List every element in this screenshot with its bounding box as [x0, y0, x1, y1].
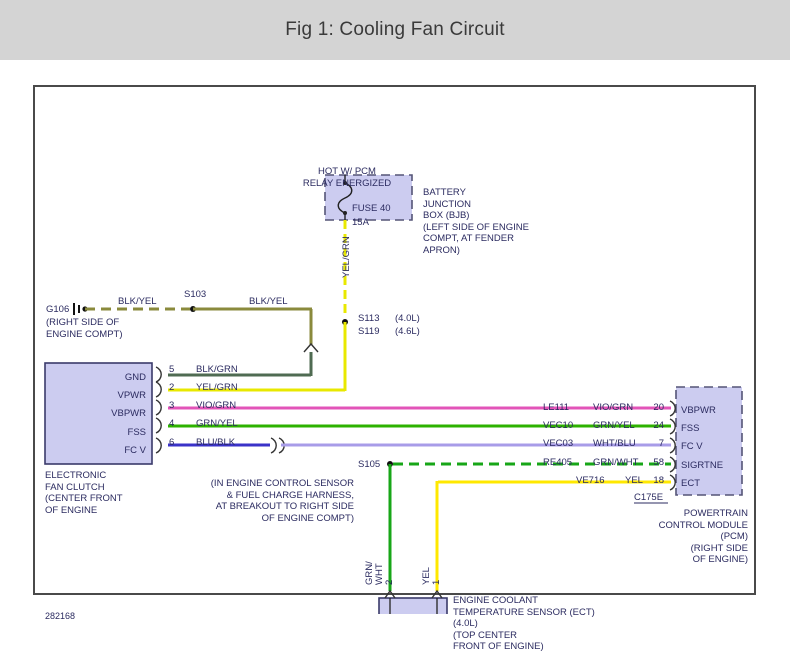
pcm-circuit-vec03: VEC03 [543, 438, 573, 450]
pcm-wire-grn-wht: GRN/WHT [593, 457, 638, 469]
pcm-pin-name-vbpwr: VBPWR [681, 405, 716, 417]
pcm-pin-number-24: 24 [640, 420, 664, 432]
pcm-pin-number-58: 58 [640, 457, 664, 469]
fan-clutch-pin-number-5: 5 [169, 364, 174, 376]
connector-arc-gnd [304, 344, 318, 352]
connector-arc-inline-a [271, 438, 276, 453]
connector-arc-pin6 [156, 438, 161, 453]
fan-clutch-pin-number-2: 2 [169, 382, 174, 394]
fan-clutch-pin-number-6: 6 [169, 437, 174, 449]
pcm-pin-name-ect: ECT [681, 478, 700, 490]
pcm-connector-label: C175E [634, 492, 663, 504]
fan-clutch-pin-name-fss: FSS [82, 427, 146, 439]
bjb-hot-note-line1: HOT W/ PCM [292, 166, 402, 178]
connector-arc-pin3 [156, 400, 161, 415]
ect-pin2-number: 2 [384, 580, 395, 585]
wire-label-yel-grn-vertical: YEL/GRN [341, 236, 352, 278]
wire-label-blk-grn: BLK/GRN [196, 364, 238, 376]
connector-arrow-ect-pin2 [385, 591, 395, 598]
document-number: 282168 [45, 611, 75, 621]
splice-s119-label: S119 [358, 326, 379, 338]
fan-clutch-pin-number-4: 4 [169, 418, 174, 430]
splice-s105-caption: (IN ENGINE CONTROL SENSOR & FUEL CHARGE … [186, 478, 354, 524]
bjb-hot-note-line2: RELAY ENERGIZED [285, 178, 409, 190]
ground-caption: (RIGHT SIDE OF ENGINE COMPT) [46, 317, 123, 340]
connector-arc-pin2 [156, 382, 161, 397]
splice-s113-note: (4.0L) [395, 313, 420, 325]
wire-label-blu-blk: BLU/BLK [196, 437, 235, 449]
bjb-caption: BATTERY JUNCTION BOX (BJB) (LEFT SIDE OF… [423, 187, 529, 256]
pcm-pin-number-20: 20 [640, 402, 664, 414]
pcm-wire-vio-grn: VIO/GRN [593, 402, 633, 414]
ect-pin1-number: 1 [431, 580, 442, 585]
wire-label-blk-yel-right: BLK/YEL [249, 296, 288, 308]
fan-clutch-pin-number-3: 3 [169, 400, 174, 412]
connector-arc-pin5 [156, 367, 161, 382]
wire-label-vio-grn: VIO/GRN [196, 400, 236, 412]
fuse-rating-label: 15A [352, 217, 369, 229]
connector-arrow-ect-pin1 [432, 591, 442, 598]
splice-s103-label: S103 [184, 289, 206, 301]
ground-id-label: G106 [46, 304, 69, 316]
fuse-name-label: FUSE 40 [352, 203, 391, 215]
fan-clutch-pin-name-fcv: FC V [82, 445, 146, 457]
page-title: Fig 1: Cooling Fan Circuit [285, 19, 505, 41]
splice-s113-label: S113 [358, 313, 379, 325]
pcm-circuit-le111: LE111 [543, 402, 569, 414]
splice-s105-label: S105 [358, 459, 380, 471]
diagram-page: HOT W/ PCM RELAY ENERGIZED FUSE 40 15A B… [0, 60, 790, 614]
pcm-pin-name-sigrtne: SIGRTNE [681, 460, 723, 472]
wire-label-blk-yel-left: BLK/YEL [118, 296, 157, 308]
figure-header: Fig 1: Cooling Fan Circuit [0, 0, 790, 60]
connector-arc-pin4 [156, 418, 161, 433]
pcm-circuit-re405: RE405 [543, 457, 572, 469]
fan-clutch-caption: ELECTRONIC FAN CLUTCH (CENTER FRONT OF E… [45, 470, 123, 516]
wire-label-grn-yel: GRN/YEL [196, 418, 238, 430]
fan-clutch-pin-name-vpwr: VPWR [82, 390, 146, 402]
wire-label-yel-grn: YEL/GRN [196, 382, 238, 394]
pcm-pin-number-7: 7 [640, 438, 664, 450]
pcm-pin-name-fss: FSS [681, 423, 699, 435]
pcm-pin-number-18: 18 [640, 475, 664, 487]
pcm-circuit-ve716: VE716 [576, 475, 605, 487]
fan-clutch-pin-name-gnd: GND [82, 372, 146, 384]
splice-s119-note: (4.6L) [395, 326, 420, 338]
pcm-wire-grn-yel: GRN/YEL [593, 420, 635, 432]
pcm-caption: POWERTRAIN CONTROL MODULE (PCM) (RIGHT S… [620, 508, 748, 566]
pcm-circuit-vec10: VEC10 [543, 420, 573, 432]
ect-caption: ENGINE COOLANT TEMPERATURE SENSOR (ECT) … [453, 595, 595, 653]
fan-clutch-pin-name-vbpwr: VBPWR [82, 408, 146, 420]
pcm-wire-wht-blu: WHT/BLU [593, 438, 636, 450]
pcm-pin-name-fcv: FC V [681, 441, 703, 453]
diagram-canvas: HOT W/ PCM RELAY ENERGIZED FUSE 40 15A B… [0, 60, 790, 614]
